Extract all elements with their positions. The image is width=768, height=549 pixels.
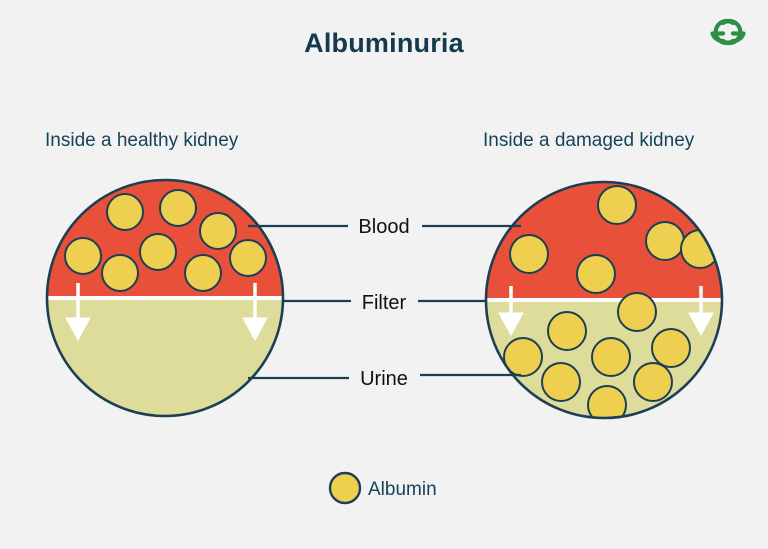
legend: Albumin — [330, 473, 437, 503]
urine-region-healthy-kidney — [45, 298, 285, 418]
albumin-circle — [65, 238, 101, 274]
panel-caption-damaged-kidney: Inside a damaged kidney — [483, 130, 695, 151]
page-title: Albuminuria — [304, 28, 464, 58]
albumin-circle — [618, 293, 656, 331]
diagram-canvas: Albuminuria Inside a healthy kidneyInsid… — [0, 0, 768, 549]
center-label-blood: Blood — [248, 216, 521, 238]
geeksforgeeks-logo[interactable] — [713, 21, 744, 43]
center-label-text-urine: Urine — [360, 368, 408, 390]
panel-caption-healthy-kidney: Inside a healthy kidney — [45, 130, 239, 151]
albumin-circle — [598, 186, 636, 224]
center-label-urine: Urine — [248, 368, 521, 390]
albumin-circle — [510, 235, 548, 273]
albumin-circle — [200, 213, 236, 249]
albumin-circle — [652, 329, 690, 367]
center-label-text-blood: Blood — [358, 216, 409, 238]
albumin-circle — [102, 255, 138, 291]
albumin-circle — [160, 190, 196, 226]
albumin-swatch — [330, 473, 360, 503]
center-label-filter: Filter — [283, 292, 487, 314]
center-label-text-filter: Filter — [362, 292, 407, 314]
albumin-circle — [230, 240, 266, 276]
kidney-damaged-kidney — [484, 180, 724, 424]
albumin-circle — [140, 234, 176, 270]
albumin-circle — [548, 312, 586, 350]
albumin-circle — [681, 230, 719, 268]
albumin-circle — [592, 338, 630, 376]
albuminuria-diagram: Albuminuria Inside a healthy kidneyInsid… — [0, 0, 768, 549]
albumin-circle — [185, 255, 221, 291]
albumin-circle — [577, 255, 615, 293]
panel-captions: Inside a healthy kidneyInside a damaged … — [45, 130, 695, 151]
albumin-circle — [542, 363, 580, 401]
kidney-healthy-kidney — [45, 178, 285, 418]
center-labels: BloodFilterUrine — [248, 216, 521, 390]
legend-label: Albumin — [368, 479, 437, 500]
albumin-circle — [107, 194, 143, 230]
albumin-circle — [634, 363, 672, 401]
albumin-circle — [646, 222, 684, 260]
